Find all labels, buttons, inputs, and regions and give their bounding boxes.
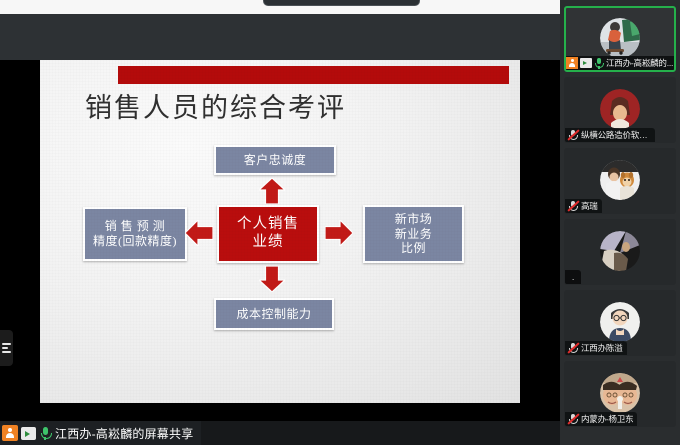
slide-top-accent-bar [118, 66, 509, 84]
avatar [600, 89, 640, 129]
diagram-box-new-market-new-business-ratio: 新市场 新业务 比例 [363, 205, 464, 263]
host-person-icon [566, 57, 578, 69]
arrow-right-icon [325, 220, 353, 246]
participant-tile[interactable]: 内蒙办-杨卫东 [564, 361, 676, 427]
participant-name: 内蒙办-杨卫东 [581, 413, 633, 425]
participant-name: 高瑞 [581, 200, 598, 212]
screen-share-icon [21, 427, 36, 440]
avatar [600, 373, 640, 413]
participant-label: 纵横公路造价软件李峥嵘 [565, 128, 655, 142]
diagram-box-right-label-line2: 新业务 [395, 227, 433, 242]
microphone-muted-icon [567, 129, 579, 141]
arrow-down-icon [259, 266, 285, 292]
avatar [600, 160, 640, 200]
diagram-box-top-label: 客户忠诚度 [244, 153, 307, 168]
participant-tile[interactable]: . [564, 219, 676, 285]
sharing-status-bar: 江西办-高崧麟的屏幕共享 [0, 421, 560, 445]
diagram-box-right-label-line3: 比例 [395, 241, 433, 256]
participant-name: 纵横公路造价软件李峥嵘 [581, 129, 651, 141]
microphone-muted-icon [567, 200, 579, 212]
diagram-box-cost-control-capability: 成本控制能力 [214, 298, 334, 330]
microphone-muted-icon [567, 342, 579, 354]
arrow-up-icon [259, 178, 285, 204]
host-person-icon [2, 425, 18, 441]
participant-label: 高瑞 [565, 199, 602, 213]
diagram-box-personal-sales-performance: 个人销售 业绩 [217, 205, 319, 263]
participant-tile[interactable]: 高瑞 [564, 148, 676, 214]
participants-list-icon[interactable] [0, 330, 13, 366]
participant-label: 江西办-高崧麟的... [566, 56, 676, 70]
list-bars-glyph [2, 341, 11, 355]
viewer-toolbar-band [0, 14, 560, 60]
powerpoint-slide: 销售人员的综合考评 客户忠诚度 销 售 预 测 精度(回款精度) [40, 60, 520, 403]
participant-tile[interactable]: 江西办陈溢 [564, 290, 676, 356]
avatar [600, 302, 640, 342]
sharing-status-chip: 江西办-高崧麟的屏幕共享 [0, 421, 201, 445]
arrow-left-icon [185, 220, 213, 246]
screen-share-icon [580, 58, 592, 68]
diagram-box-center-label-line2: 业绩 [237, 234, 299, 252]
microphone-icon [39, 426, 51, 441]
participant-tile[interactable]: 纵横公路造价软件李峥嵘 [564, 77, 676, 143]
microphone-muted-icon [567, 413, 579, 425]
avatar [600, 18, 640, 58]
participant-name: 江西办陈溢 [581, 342, 623, 354]
avatar [600, 231, 640, 271]
microphone-icon [594, 57, 604, 69]
sharing-status-label: 江西办-高崧麟的屏幕共享 [55, 425, 193, 442]
zoom-meeting-window: 销售人员的综合考评 客户忠诚度 销 售 预 测 精度(回款精度) [0, 0, 680, 445]
participant-name: 江西办-高崧麟的... [606, 57, 673, 69]
diagram-box-center-label-line1: 个人销售 [237, 216, 299, 234]
diagram-box-right-label-line1: 新市场 [395, 212, 433, 227]
participant-label: 江西办陈溢 [565, 341, 627, 355]
participant-name: . [572, 272, 574, 282]
diagram-box-bottom-label: 成本控制能力 [236, 307, 311, 322]
diagram-box-sales-forecast-accuracy: 销 售 预 测 精度(回款精度) [83, 207, 187, 261]
participant-filmstrip[interactable]: 江西办-高崧麟的... 纵横公路 [560, 0, 680, 445]
diagram-box-left-label-line1: 销 售 预 测 [93, 219, 177, 234]
slide-title: 销售人员的综合考评 [85, 86, 346, 125]
diagram-box-customer-loyalty: 客户忠诚度 [214, 145, 336, 175]
participant-tile[interactable]: 江西办-高崧麟的... [564, 6, 676, 72]
participant-label: 内蒙办-杨卫东 [565, 412, 637, 426]
participant-label: . [565, 270, 581, 284]
diagram-box-left-label-line2: 精度(回款精度) [93, 234, 177, 249]
screen-share-control-toolbar[interactable] [263, 0, 420, 6]
shared-screen-stage: 销售人员的综合考评 客户忠诚度 销 售 预 测 精度(回款精度) [0, 60, 560, 421]
